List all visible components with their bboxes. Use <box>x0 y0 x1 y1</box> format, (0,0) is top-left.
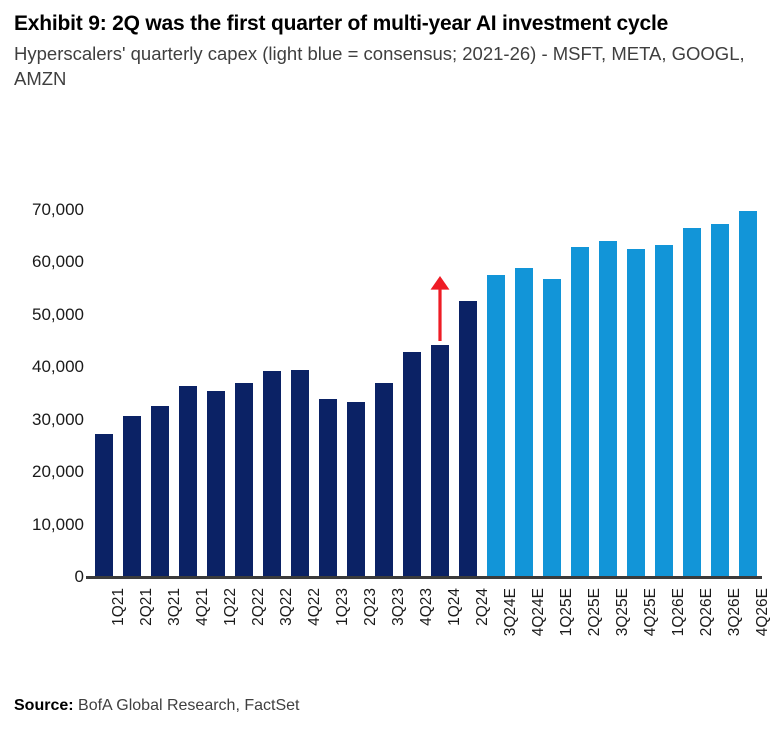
chart-subtitle: Hyperscalers' quarterly capex (light blu… <box>14 42 766 91</box>
bar <box>179 386 197 577</box>
x-axis-tick-label: 2Q26E <box>698 588 716 636</box>
x-axis-tick-label: 1Q21 <box>110 588 128 626</box>
x-axis-tick-label: 3Q21 <box>166 588 184 626</box>
bar <box>571 247 589 577</box>
bar <box>459 301 477 577</box>
bar <box>599 241 617 577</box>
up-arrow-icon <box>429 276 451 342</box>
x-axis-tick-label: 2Q25E <box>586 588 604 636</box>
bar <box>263 371 281 577</box>
y-axis-tick-label: 70,000 <box>0 200 84 220</box>
y-axis-tick-label: 0 <box>0 567 84 587</box>
bar <box>515 268 533 577</box>
source-label: Source: <box>14 697 74 714</box>
page-title: Exhibit 9: 2Q was the first quarter of m… <box>14 10 759 37</box>
bar <box>431 345 449 577</box>
x-axis-tick-label: 1Q24 <box>446 588 464 626</box>
bar <box>123 416 141 577</box>
x-axis-line <box>86 576 762 579</box>
bar <box>95 434 113 577</box>
bar <box>683 228 701 577</box>
bar <box>347 402 365 577</box>
x-axis-tick-label: 3Q24E <box>502 588 520 636</box>
x-axis-tick-label: 4Q26E <box>754 588 772 636</box>
x-axis-tick-label: 2Q21 <box>138 588 156 626</box>
y-axis-tick-label: 30,000 <box>0 410 84 430</box>
source-note: Source: BofA Global Research, FactSet <box>14 697 299 715</box>
bar <box>487 275 505 578</box>
bar <box>655 245 673 577</box>
bar <box>739 211 757 577</box>
x-axis-tick-label: 3Q23 <box>390 588 408 626</box>
y-axis-tick-label: 50,000 <box>0 305 84 325</box>
y-axis-tick-label: 40,000 <box>0 357 84 377</box>
bar <box>543 279 561 577</box>
x-axis-tick-label: 4Q21 <box>194 588 212 626</box>
source-text: BofA Global Research, FactSet <box>78 697 299 714</box>
y-axis: 010,00020,00030,00040,00050,00060,00070,… <box>0 210 84 577</box>
x-axis: 1Q212Q213Q214Q211Q222Q223Q224Q221Q232Q23… <box>90 582 762 672</box>
bar <box>711 224 729 577</box>
bar <box>403 352 421 577</box>
bar <box>151 406 169 577</box>
x-axis-tick-label: 3Q26E <box>726 588 744 636</box>
bar <box>207 391 225 577</box>
x-axis-tick-label: 4Q24E <box>530 588 548 636</box>
x-axis-tick-label: 1Q26E <box>670 588 688 636</box>
x-axis-tick-label: 1Q25E <box>558 588 576 636</box>
y-axis-tick-label: 20,000 <box>0 462 84 482</box>
bars-layer <box>90 210 762 577</box>
x-axis-tick-label: 2Q24 <box>474 588 492 626</box>
bar <box>627 249 645 577</box>
bar <box>319 399 337 577</box>
x-axis-tick-label: 3Q22 <box>278 588 296 626</box>
x-axis-tick-label: 2Q23 <box>362 588 380 626</box>
x-axis-tick-label: 4Q23 <box>418 588 436 626</box>
bar <box>375 383 393 577</box>
x-axis-tick-label: 1Q22 <box>222 588 240 626</box>
x-axis-tick-label: 4Q25E <box>642 588 660 636</box>
y-axis-tick-label: 10,000 <box>0 515 84 535</box>
bar <box>235 383 253 577</box>
x-axis-tick-label: 2Q22 <box>250 588 268 626</box>
bar-chart: 010,00020,00030,00040,00050,00060,00070,… <box>0 196 780 676</box>
x-axis-tick-label: 4Q22 <box>306 588 324 626</box>
y-axis-tick-label: 60,000 <box>0 252 84 272</box>
bar <box>291 370 309 577</box>
x-axis-tick-label: 1Q23 <box>334 588 352 626</box>
chart-header: Exhibit 9: 2Q was the first quarter of m… <box>0 0 780 91</box>
x-axis-tick-label: 3Q25E <box>614 588 632 636</box>
